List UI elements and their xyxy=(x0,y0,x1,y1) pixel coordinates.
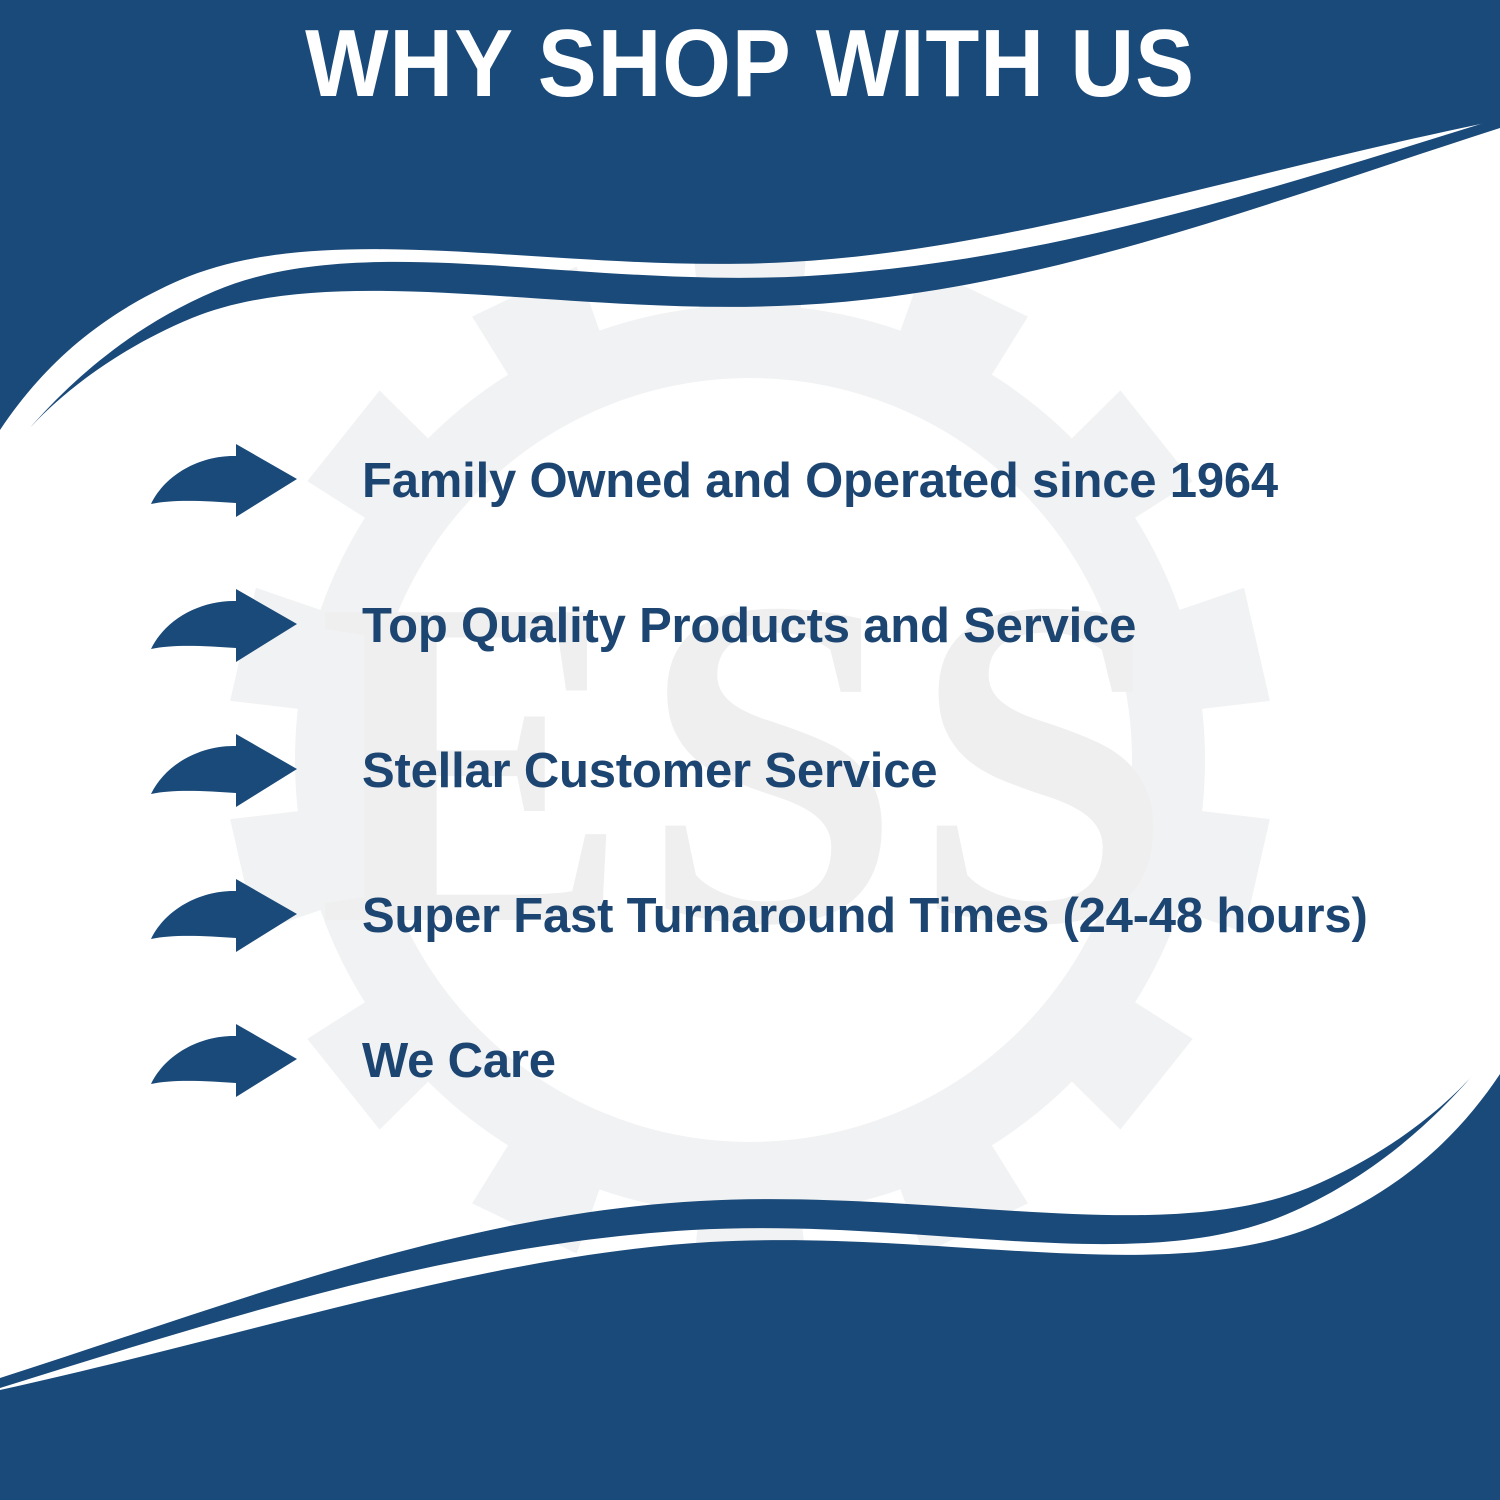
why-shop-with-us-poster: ESS WHY SHOP WITH US Fami xyxy=(0,0,1500,1500)
list-item: Super Fast Turnaround Times (24-48 hours… xyxy=(150,867,1450,967)
curved-arrow-icon xyxy=(150,1023,300,1101)
curved-arrow-icon xyxy=(150,443,300,521)
benefits-list: Family Owned and Operated since 1964 Top… xyxy=(150,432,1450,1112)
list-item: Stellar Customer Service xyxy=(150,722,1450,822)
list-item: Top Quality Products and Service xyxy=(150,577,1450,677)
list-item: Family Owned and Operated since 1964 xyxy=(150,432,1450,532)
curved-arrow-icon xyxy=(150,588,300,666)
curved-arrow-icon xyxy=(150,878,300,956)
list-item: We Care xyxy=(150,1012,1450,1112)
benefit-label: Top Quality Products and Service xyxy=(362,600,1136,654)
bottom-wave-swoosh xyxy=(0,1074,1500,1500)
benefit-label: Family Owned and Operated since 1964 xyxy=(362,455,1278,509)
page-title: WHY SHOP WITH US xyxy=(60,14,1440,115)
curved-arrow-icon xyxy=(150,733,300,811)
benefit-label: Super Fast Turnaround Times (24-48 hours… xyxy=(362,890,1368,944)
benefit-label: We Care xyxy=(362,1035,556,1089)
benefit-label: Stellar Customer Service xyxy=(362,745,937,799)
